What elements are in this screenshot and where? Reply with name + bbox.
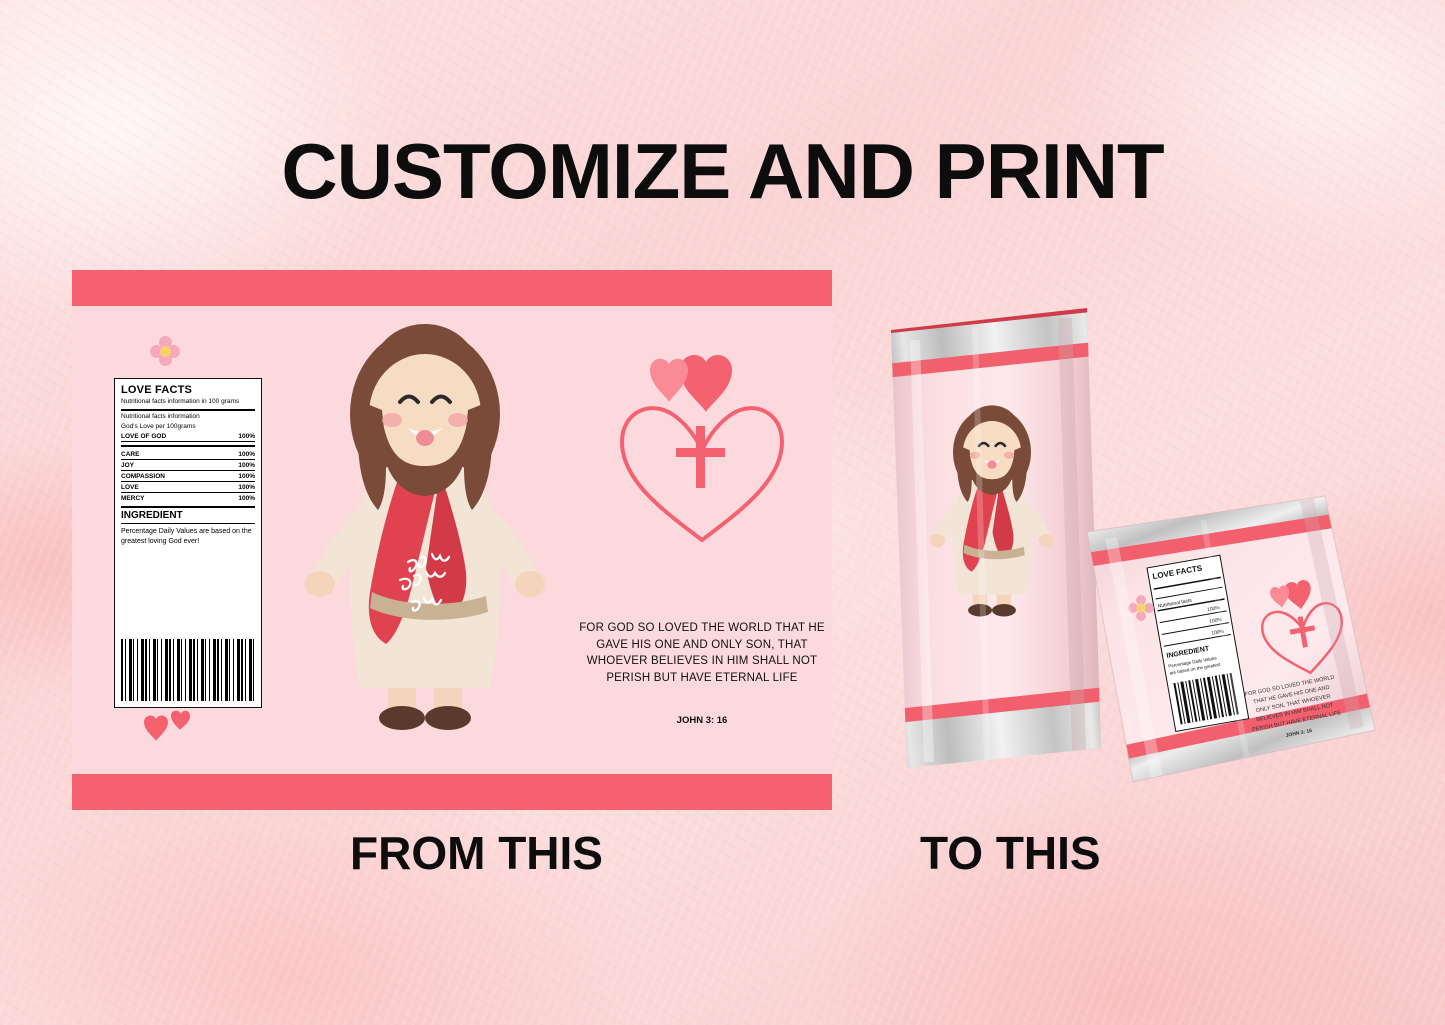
heart-cross-emblem bbox=[602, 330, 802, 560]
love-facts-title: LOVE FACTS bbox=[121, 384, 255, 396]
jesus-figure-illustration bbox=[300, 306, 550, 746]
label-top-bar bbox=[72, 270, 832, 306]
love-facts-subtitle: Nutritional facts information in 100 gra… bbox=[121, 398, 255, 406]
bible-verse-text: FOR GOD SO LOVED THE WORLD THAT HE GAVE … bbox=[577, 620, 827, 687]
table-row: MERCY 100% bbox=[121, 493, 255, 503]
table-row: LOVE 100% bbox=[121, 482, 255, 493]
hearts-icon bbox=[144, 710, 190, 744]
table-row: COMPASSION 100% bbox=[121, 471, 255, 482]
table-row: CARE 100% bbox=[121, 449, 255, 460]
barcode bbox=[121, 639, 255, 701]
flower-icon bbox=[150, 336, 180, 366]
love-facts-main-value: 100% bbox=[238, 433, 255, 440]
bag-mockup-group: LOVE FACTS Nutritional facts 100% 100% 1… bbox=[855, 300, 1415, 830]
love-facts-row-value: 100% bbox=[238, 495, 255, 502]
love-facts-row-name: CARE bbox=[121, 451, 139, 458]
love-facts-row-value: 100% bbox=[238, 484, 255, 491]
love-facts-row-name: JOY bbox=[121, 462, 134, 469]
love-facts-row-name: MERCY bbox=[121, 495, 144, 502]
caption-from-this: FROM THIS bbox=[350, 826, 603, 880]
love-facts-main-name: LOVE OF GOD bbox=[121, 433, 166, 440]
love-facts-secondary-2: God's Love per 100grams bbox=[121, 423, 255, 431]
table-row: JOY 100% bbox=[121, 460, 255, 471]
love-facts-row-value: 100% bbox=[238, 473, 255, 480]
caption-to-this: TO THIS bbox=[920, 826, 1101, 880]
flat-label-artwork: LOVE FACTS Nutritional facts information… bbox=[72, 270, 832, 810]
ingredient-body: Percentage Daily Values are based on the… bbox=[121, 527, 255, 546]
label-bottom-bar bbox=[72, 774, 832, 810]
bible-verse-reference: JOHN 3: 16 bbox=[577, 715, 827, 726]
love-facts-main-row: LOVE OF GOD 100% bbox=[121, 431, 255, 442]
page-title: CUSTOMIZE AND PRINT bbox=[0, 126, 1445, 217]
love-facts-row-name: COMPASSION bbox=[121, 473, 165, 480]
love-facts-row-name: LOVE bbox=[121, 484, 139, 491]
love-facts-panel: LOVE FACTS Nutritional facts information… bbox=[114, 378, 262, 708]
bag-mockup-front: LOVE FACTS Nutritional facts 100% 100% 1… bbox=[1076, 461, 1400, 820]
love-facts-row-value: 100% bbox=[238, 462, 255, 469]
ingredient-title: INGREDIENT bbox=[121, 510, 255, 521]
love-facts-secondary-1: Nutritional facts information bbox=[121, 413, 255, 421]
love-facts-row-value: 100% bbox=[238, 451, 255, 458]
bag-mockup-back bbox=[873, 300, 1124, 782]
